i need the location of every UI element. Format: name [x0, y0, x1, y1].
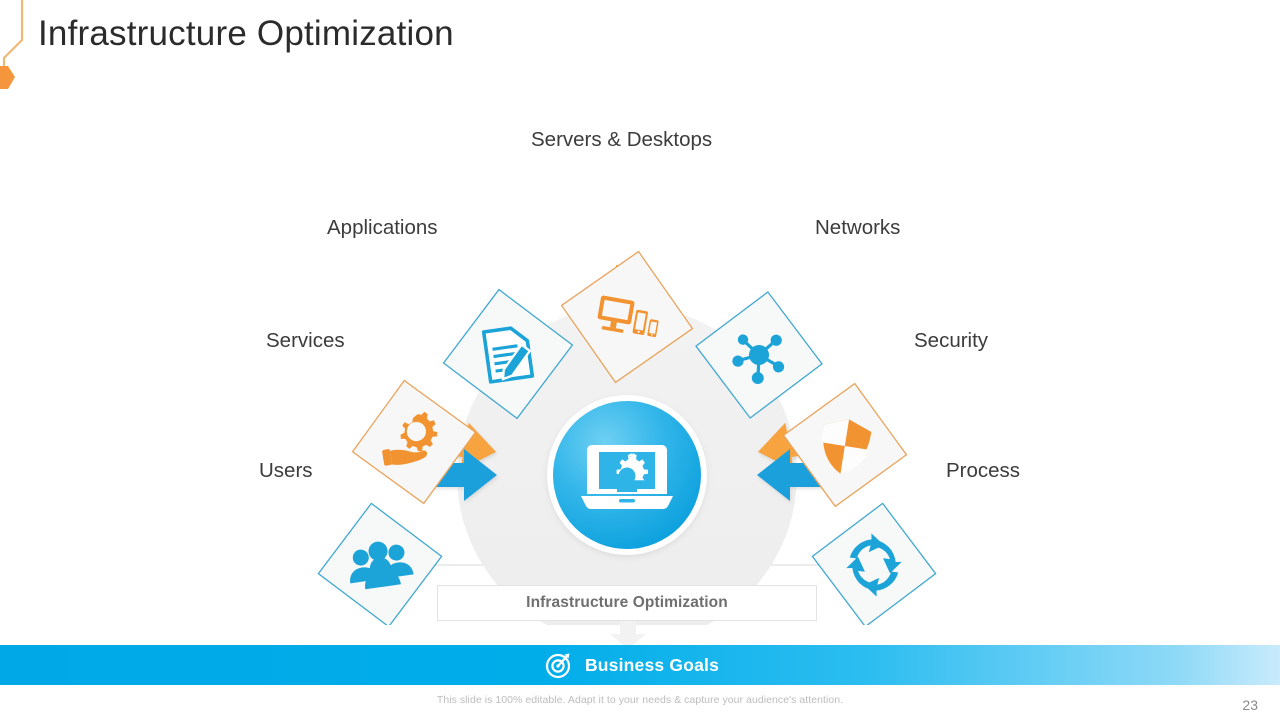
center-node [547, 395, 707, 555]
label-applications: Applications [327, 216, 438, 240]
corner-decoration [0, 0, 40, 100]
laptop-gear-icon [581, 445, 673, 509]
label-services: Services [266, 329, 345, 353]
label-process: Process [946, 459, 1020, 483]
footer-note: This slide is 100% editable. Adapt it to… [0, 694, 1280, 706]
page-title: Infrastructure Optimization [38, 14, 454, 54]
label-networks: Networks [815, 216, 900, 240]
target-arrow-icon [545, 651, 573, 679]
center-caption-text: Infrastructure Optimization [526, 594, 728, 612]
business-goals-label: Business Goals [585, 655, 719, 676]
label-security: Security [914, 329, 988, 353]
label-users: Users [259, 459, 313, 483]
business-goals-bar: Business Goals [0, 645, 1280, 685]
page-number: 23 [1242, 697, 1258, 713]
infrastructure-diagram: Applications Servers & Desktops Networks… [0, 95, 1280, 625]
node-process[interactable] [804, 495, 945, 625]
center-caption-box: Infrastructure Optimization [437, 585, 817, 621]
label-servers-desktops: Servers & Desktops [531, 128, 712, 152]
node-users[interactable] [310, 495, 451, 625]
